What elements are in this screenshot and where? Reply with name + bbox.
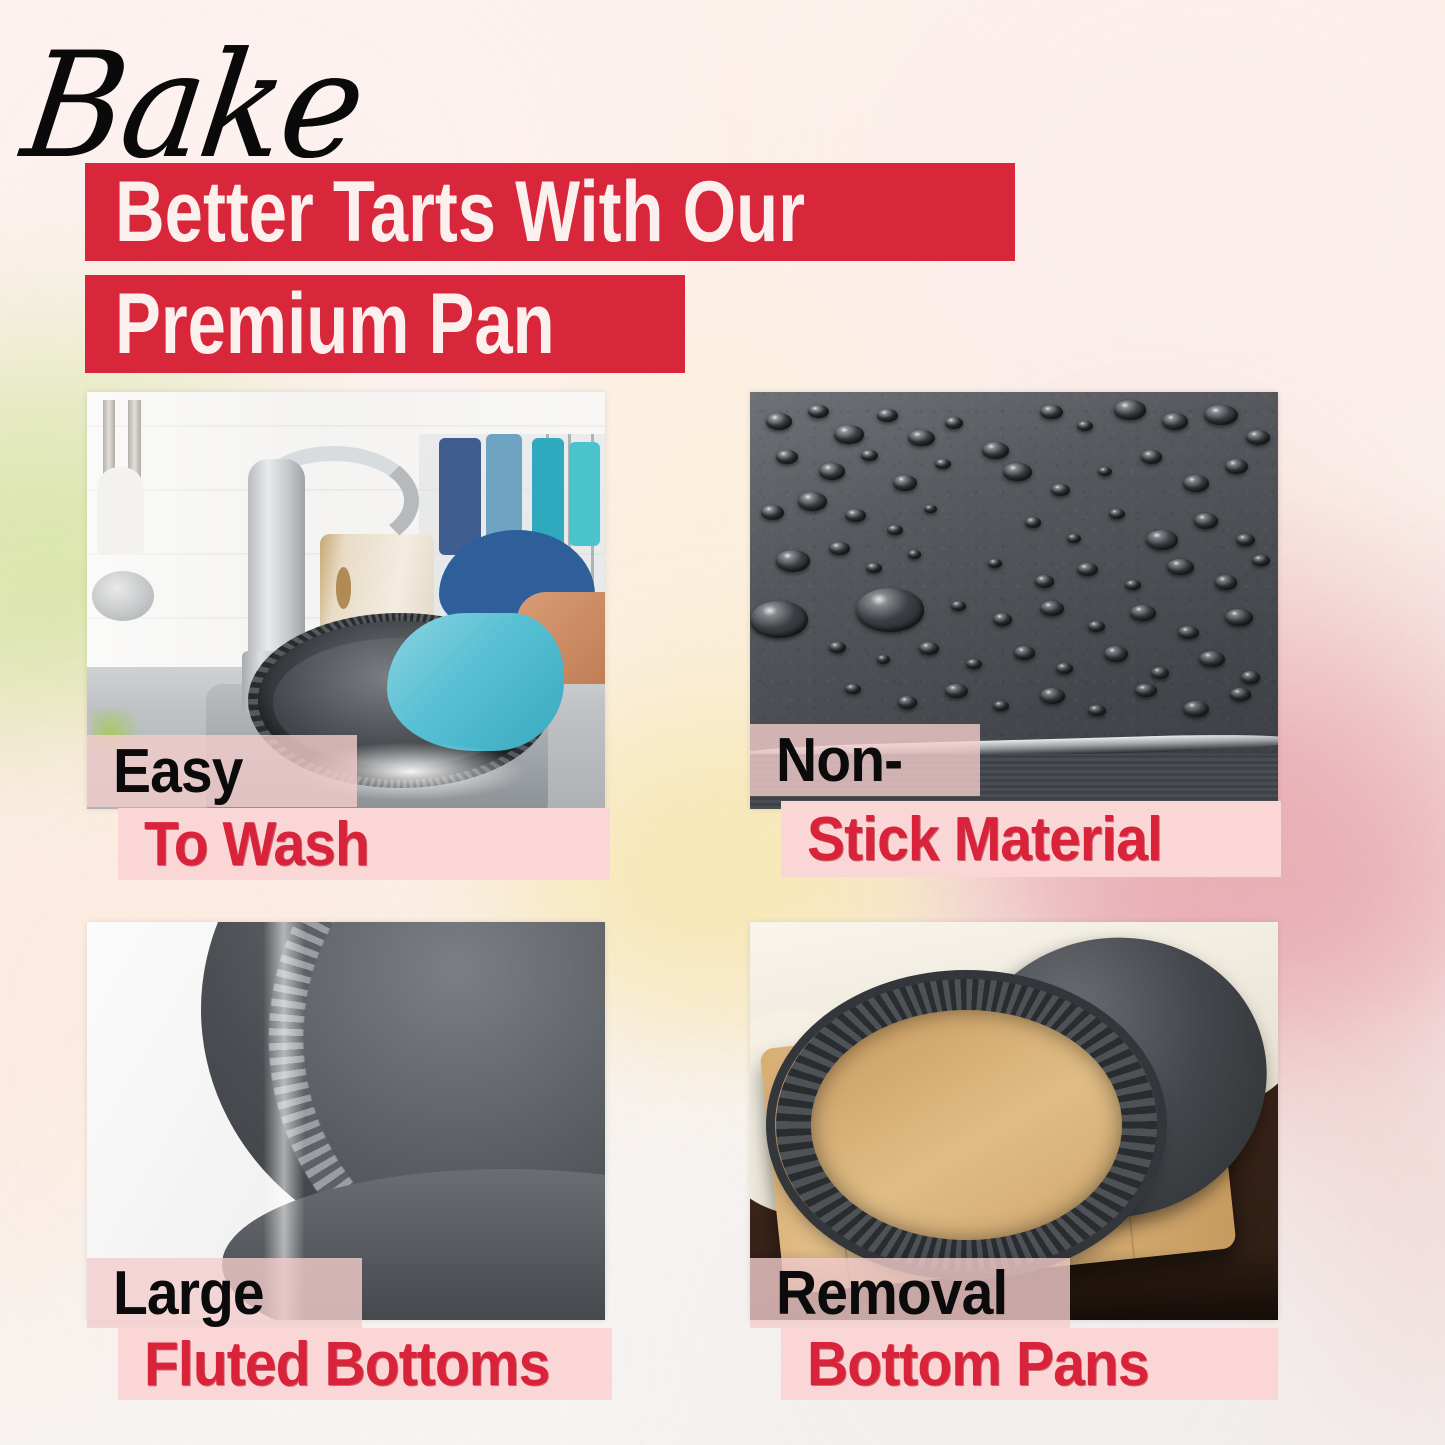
caption-top-removal-text: Removal <box>776 1258 1007 1329</box>
headline-banner-line-2-text: Premium Pan <box>115 275 555 374</box>
caption-top-non-text: Non- <box>776 725 902 796</box>
product-infographic-poster: Bake Better Tarts With Our Premium Pan <box>0 0 1445 1445</box>
caption-bottom-to-wash-text: To Wash <box>144 809 369 880</box>
caption-bottom-fluted-bottoms: Fluted Bottoms <box>118 1328 612 1400</box>
caption-top-removal: Removal <box>750 1258 1070 1328</box>
caption-bottom-fluted-bottoms-text: Fluted Bottoms <box>144 1329 549 1400</box>
caption-top-large-text: Large <box>113 1258 264 1329</box>
caption-bottom-stick-material-text: Stick Material <box>807 804 1162 875</box>
caption-top-large: Large <box>87 1258 362 1328</box>
caption-bottom-stick-material: Stick Material <box>781 801 1281 877</box>
caption-bottom-to-wash: To Wash <box>118 808 610 880</box>
caption-top-non: Non- <box>750 724 980 796</box>
caption-bottom-bottom-pans-text: Bottom Pans <box>807 1329 1149 1400</box>
script-headline-bake: Bake <box>15 34 370 180</box>
caption-bottom-bottom-pans: Bottom Pans <box>781 1328 1278 1400</box>
caption-top-easy-text: Easy <box>113 736 243 807</box>
headline-banner-line-2: Premium Pan <box>85 275 685 373</box>
caption-top-easy: Easy <box>87 735 357 807</box>
